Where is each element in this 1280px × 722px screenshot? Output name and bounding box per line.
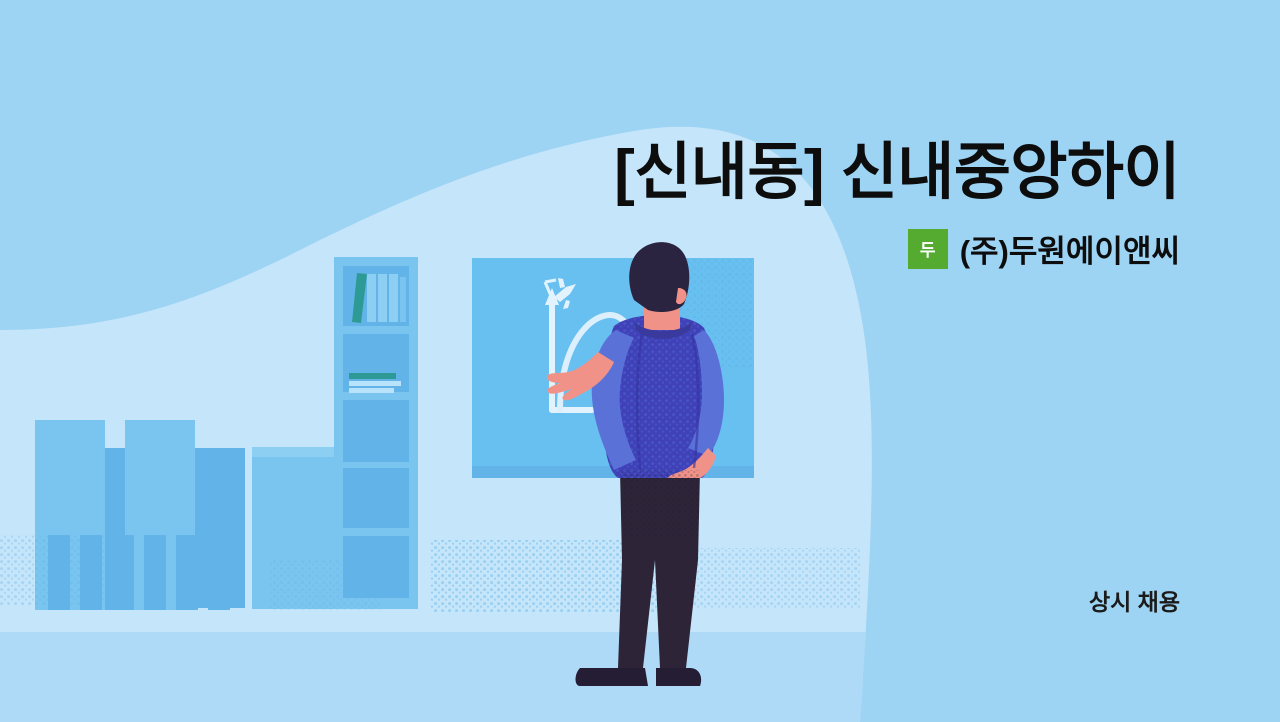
book-3 [389, 274, 398, 322]
book-stack-light-2 [349, 388, 394, 393]
floor-band [0, 632, 900, 722]
book-2 [378, 274, 387, 322]
man-trousers-texture [620, 470, 700, 540]
book-stack-teal [349, 373, 396, 379]
job-posting-poster: [신내동] 신내중앙하이 두 (주)두원에이앤씨 상시 채용 [0, 0, 1280, 722]
man-shoe-left [576, 668, 649, 686]
bookshelf-shelf-4 [343, 468, 409, 528]
man-shoe-right [656, 668, 701, 686]
book-4 [400, 277, 406, 322]
bookshelf [334, 257, 418, 609]
poster-illustration [0, 0, 1280, 722]
bookshelf-shelf-3 [343, 400, 409, 462]
book-stack-light-1 [349, 381, 401, 386]
book-1 [367, 274, 376, 322]
